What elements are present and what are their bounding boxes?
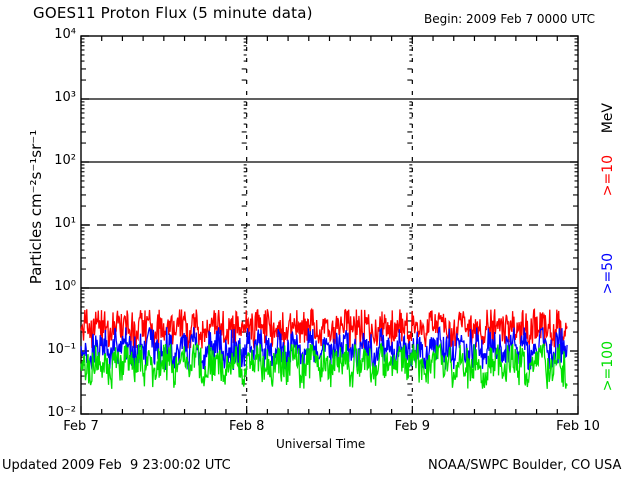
chart-page: GOES11 Proton Flux (5 minute data) Begin… <box>0 0 640 480</box>
legend-item-ge50: >=50 <box>600 253 616 294</box>
legend-item-ge100: >=100 <box>600 341 616 391</box>
legend-unit-label: MeV <box>600 103 616 133</box>
legend-item-ge10: >=10 <box>600 155 616 196</box>
proton-flux-plot <box>0 0 640 480</box>
